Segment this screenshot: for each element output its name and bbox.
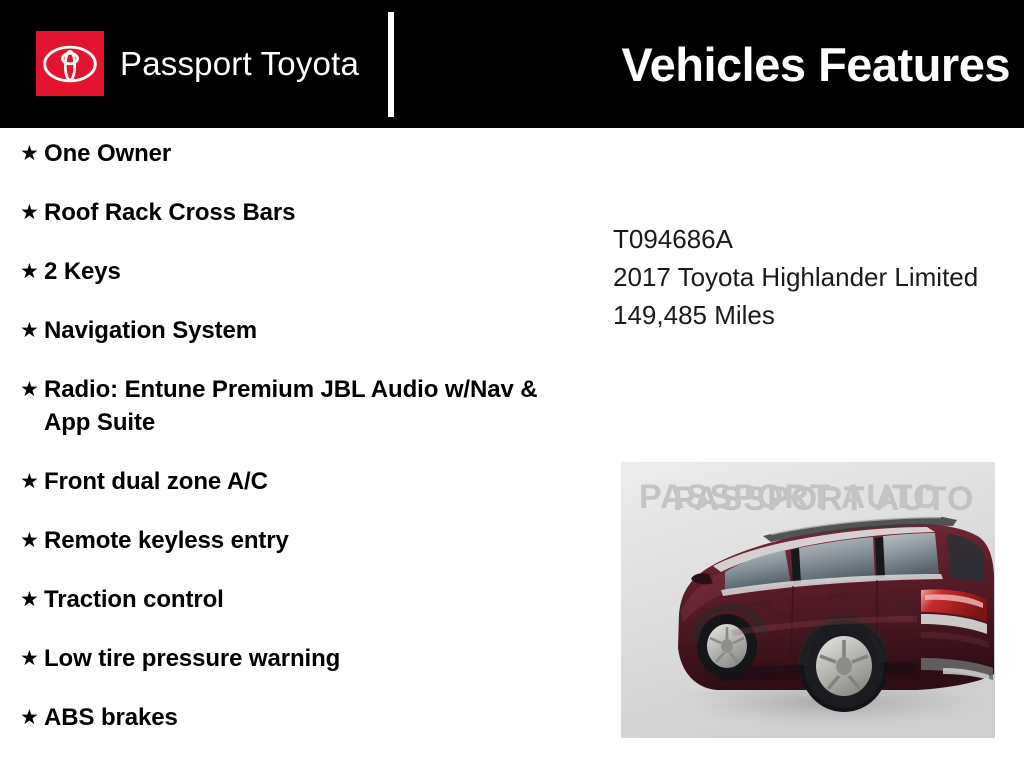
page-title: Vehicles Features bbox=[520, 0, 1010, 128]
star-icon: ★ bbox=[12, 583, 44, 616]
list-item: ★ Radio: Entune Premium JBL Audio w/Nav … bbox=[12, 373, 572, 439]
feature-label: Remote keyless entry bbox=[44, 524, 289, 557]
vehicle-photo: PASSPORT AUTO bbox=[621, 462, 995, 738]
list-item: ★ ABS brakes bbox=[12, 701, 572, 734]
list-item: ★ Roof Rack Cross Bars bbox=[12, 196, 572, 229]
star-icon: ★ bbox=[12, 465, 44, 498]
feature-label: Traction control bbox=[44, 583, 224, 616]
star-icon: ★ bbox=[12, 196, 44, 229]
feature-label: 2 Keys bbox=[44, 255, 121, 288]
star-icon: ★ bbox=[12, 137, 44, 170]
list-item: ★ Low tire pressure warning bbox=[12, 642, 572, 675]
star-icon: ★ bbox=[12, 701, 44, 734]
vehicle-photo-illustration: PASSPORT AUTO bbox=[621, 462, 995, 738]
feature-label: Front dual zone A/C bbox=[44, 465, 268, 498]
list-item: ★ Traction control bbox=[12, 583, 572, 616]
dealer-name: Passport Toyota bbox=[120, 47, 359, 80]
feature-label: Roof Rack Cross Bars bbox=[44, 196, 295, 229]
list-item: ★ One Owner bbox=[12, 137, 572, 170]
vehicle-mileage: 149,485 Miles bbox=[613, 296, 1003, 334]
feature-label: ABS brakes bbox=[44, 701, 178, 734]
star-icon: ★ bbox=[12, 314, 44, 347]
vehicle-title: 2017 Toyota Highlander Limited bbox=[613, 258, 1003, 296]
feature-label: One Owner bbox=[44, 137, 171, 170]
svg-text:PASSPORT AUTO: PASSPORT AUTO bbox=[673, 480, 974, 518]
vehicle-info: T094686A 2017 Toyota Highlander Limited … bbox=[613, 220, 1003, 334]
list-item: ★ Navigation System bbox=[12, 314, 572, 347]
feature-label: Low tire pressure warning bbox=[44, 642, 340, 675]
stock-number: T094686A bbox=[613, 220, 1003, 258]
star-icon: ★ bbox=[12, 642, 44, 675]
star-icon: ★ bbox=[12, 524, 44, 557]
star-icon: ★ bbox=[12, 255, 44, 288]
list-item: ★ 2 Keys bbox=[12, 255, 572, 288]
list-item: ★ Remote keyless entry bbox=[12, 524, 572, 557]
header-divider bbox=[388, 12, 394, 117]
dealer-brand: Passport Toyota bbox=[36, 31, 359, 96]
star-icon: ★ bbox=[12, 373, 44, 406]
page-header: Passport Toyota Vehicles Features bbox=[0, 0, 1024, 128]
feature-label: Navigation System bbox=[44, 314, 257, 347]
toyota-logo-icon bbox=[36, 31, 104, 96]
features-list: ★ One Owner ★ Roof Rack Cross Bars ★ 2 K… bbox=[12, 137, 572, 760]
feature-label: Radio: Entune Premium JBL Audio w/Nav & … bbox=[44, 373, 572, 439]
list-item: ★ Front dual zone A/C bbox=[12, 465, 572, 498]
